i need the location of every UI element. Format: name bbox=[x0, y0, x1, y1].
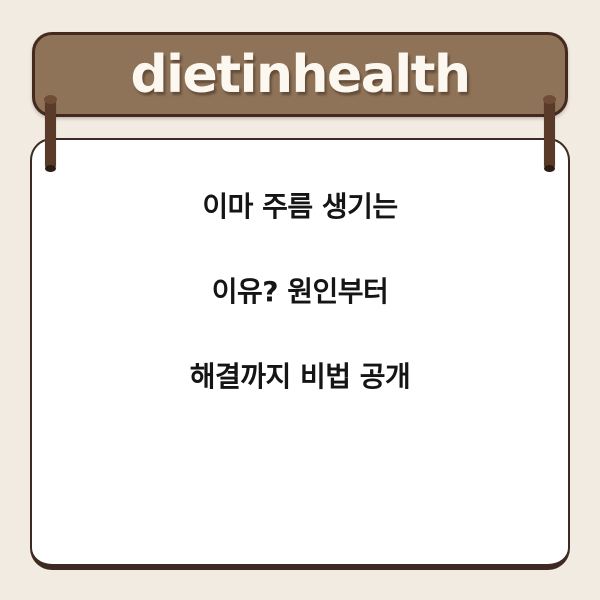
headline-line-1: 이마 주름 생기는 bbox=[32, 192, 568, 223]
content-card: 이마 주름 생기는 이유? 원인부터 해결까지 비법 공개 bbox=[30, 138, 570, 570]
headline-block: 이마 주름 생기는 이유? 원인부터 해결까지 비법 공개 bbox=[32, 192, 568, 392]
hanging-peg-left-icon bbox=[45, 98, 56, 170]
hanging-peg-right-icon bbox=[544, 98, 555, 170]
brand-banner: dietinhealth bbox=[32, 32, 568, 117]
headline-line-3: 해결까지 비법 공개 bbox=[32, 362, 568, 393]
brand-title: dietinhealth bbox=[130, 49, 469, 101]
headline-line-2: 이유? 원인부터 bbox=[32, 277, 568, 308]
poster-canvas: dietinhealth 이마 주름 생기는 이유? 원인부터 해결까지 비법 … bbox=[0, 0, 600, 600]
